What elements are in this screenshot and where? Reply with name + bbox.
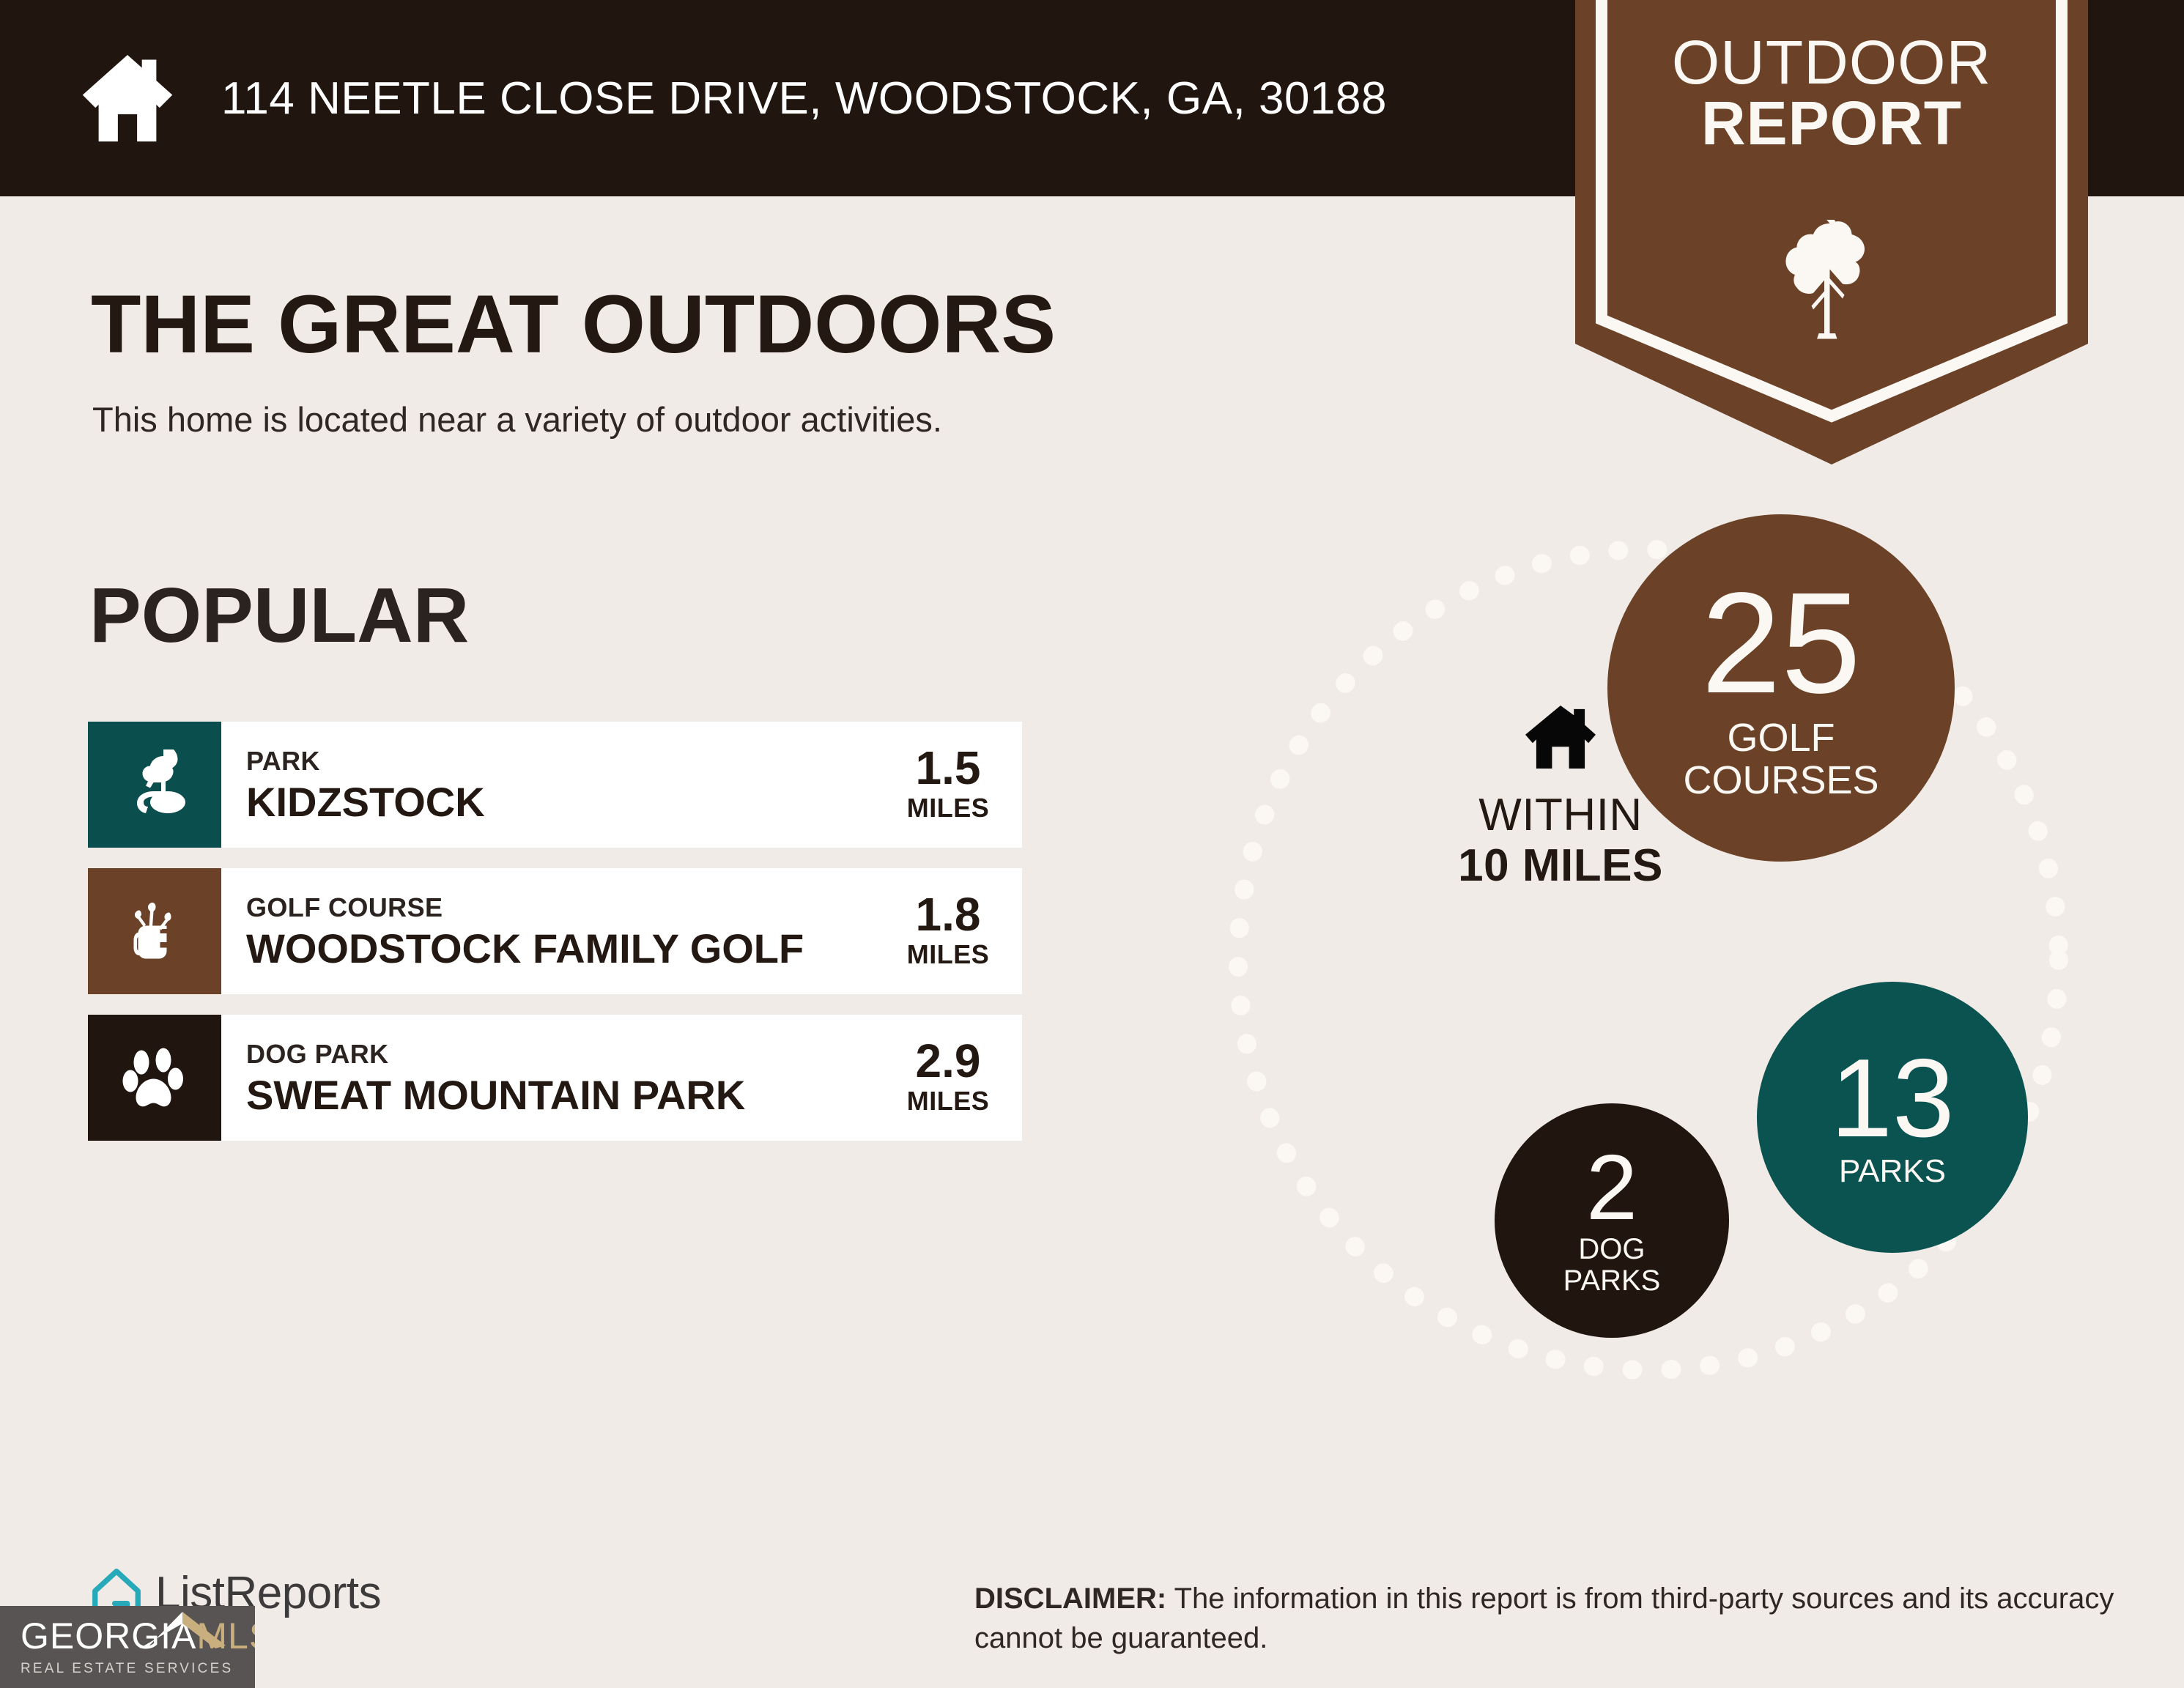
disclaimer-label: DISCLAIMER: (974, 1582, 1166, 1615)
park-tree-icon (88, 722, 221, 848)
badge-line-outdoor: OUTDOOR (1575, 32, 2088, 93)
list-item-name: SWEAT MOUNTAIN PARK (246, 1073, 886, 1119)
radius-diagram: 25 GOLF COURSES 13 PARKS 2 DOG PARKS WIT… (1158, 469, 2139, 1451)
section-title-popular: POPULAR (89, 571, 469, 660)
list-item-category: PARK (246, 744, 886, 780)
list-item-category: DOG PARK (246, 1037, 886, 1073)
distance-unit: MILES (907, 1084, 990, 1119)
home-icon (1520, 702, 1601, 772)
georgiamls-logo: GEORGIAMLS REAL ESTATE SERVICES (0, 1606, 255, 1688)
stat-value: 25 (1701, 574, 1861, 712)
diagram-center-line1: WITHIN (1399, 791, 1722, 840)
distance-value: 1.5 (916, 744, 981, 791)
distance-unit: MILES (907, 938, 990, 972)
diagram-center: WITHIN 10 MILES (1399, 702, 1722, 891)
gmls-roof-icon (139, 1610, 226, 1648)
list-item-text: DOG PARK SWEAT MOUNTAIN PARK (221, 1015, 886, 1141)
distance-unit: MILES (907, 791, 990, 826)
disclaimer: DISCLAIMER: The information in this repo… (974, 1579, 2117, 1658)
stat-value: 13 (1830, 1045, 1954, 1152)
distance-value: 2.9 (916, 1037, 981, 1084)
page-subtitle: This home is located near a variety of o… (92, 399, 942, 440)
property-address: 114 NEETLE CLOSE DRIVE, WOODSTOCK, GA, 3… (221, 73, 1387, 125)
tree-icon (1773, 220, 1890, 344)
home-icon (76, 47, 179, 149)
list-item-category: GOLF COURSE (246, 890, 886, 926)
popular-list: PARK KIDZSTOCK 1.5 MILES GOLF COURSE WOO… (88, 722, 1022, 1161)
list-item-distance: 1.5 MILES (886, 722, 1022, 848)
stat-label-line2: PARKS (1563, 1265, 1661, 1297)
stat-dog-parks: 2 DOG PARKS (1495, 1103, 1729, 1338)
list-item-distance: 1.8 MILES (886, 868, 1022, 994)
list-item-name: WOODSTOCK FAMILY GOLF (246, 926, 886, 972)
golf-bag-icon (88, 868, 221, 994)
stat-value: 2 (1586, 1144, 1637, 1232)
list-item-distance: 2.9 MILES (886, 1015, 1022, 1141)
list-item-text: PARK KIDZSTOCK (221, 722, 886, 848)
stat-label: PARKS (1839, 1154, 1946, 1189)
paw-print-icon (88, 1015, 221, 1141)
stat-label-line1: DOG (1563, 1234, 1661, 1265)
list-item[interactable]: PARK KIDZSTOCK 1.5 MILES (88, 722, 1022, 848)
diagram-center-line2: 10 MILES (1399, 840, 1722, 891)
stat-label: DOG PARKS (1563, 1234, 1661, 1297)
list-item[interactable]: DOG PARK SWEAT MOUNTAIN PARK 2.9 MILES (88, 1015, 1022, 1141)
page-title: THE GREAT OUTDOORS (91, 277, 1056, 371)
list-item-text: GOLF COURSE WOODSTOCK FAMILY GOLF (221, 868, 886, 994)
distance-value: 1.8 (916, 891, 981, 938)
stat-label-line1: PARKS (1839, 1154, 1946, 1189)
list-item-name: KIDZSTOCK (246, 780, 886, 826)
badge-title-block: OUTDOOR REPORT (1575, 32, 2088, 154)
stat-parks: 13 PARKS (1757, 982, 2028, 1253)
gmls-tagline: REAL ESTATE SERVICES (21, 1661, 255, 1677)
list-item[interactable]: GOLF COURSE WOODSTOCK FAMILY GOLF 1.8 MI… (88, 868, 1022, 994)
badge-line-report: REPORT (1575, 93, 2088, 154)
